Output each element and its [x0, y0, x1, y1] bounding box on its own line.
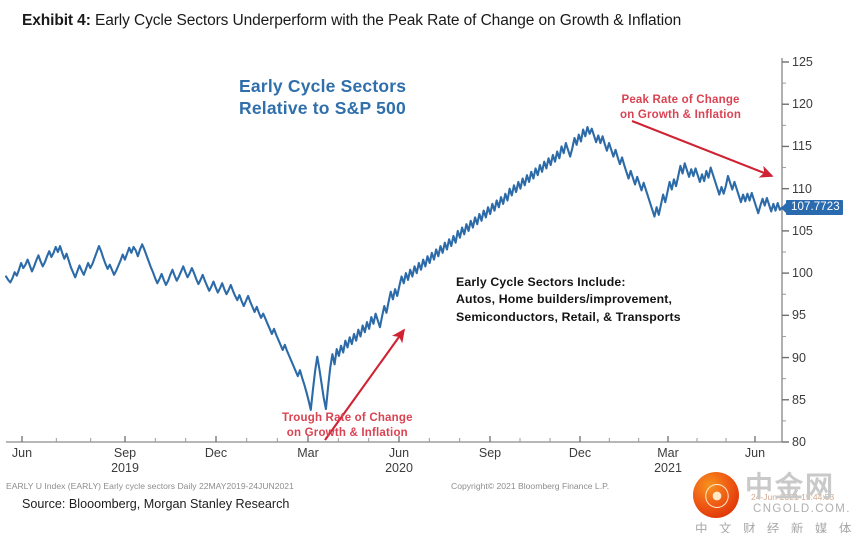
y-tick-label: 105: [792, 224, 813, 238]
watermark-cn-name: 中金网: [745, 472, 835, 502]
peak-annotation-line1: Peak Rate of Change: [620, 93, 741, 108]
y-tick-label: 90: [792, 351, 806, 365]
x-tick-label: Jun2020: [385, 446, 413, 476]
peak-annotation: Peak Rate of Change on Growth & Inflatio…: [620, 93, 741, 123]
peak-annotation-line2: on Growth & Inflation: [620, 108, 741, 123]
source-line: Source: Blooomberg, Morgan Stanley Resea…: [22, 497, 289, 511]
x-tick-label: Mar: [297, 446, 319, 461]
watermark-domain: CNGOLD.COM.CN: [753, 503, 851, 515]
x-tick-year: 2019: [111, 461, 139, 476]
exhibit-text: Early Cycle Sectors Underperform with th…: [95, 12, 681, 29]
x-tick-label: Sep: [479, 446, 501, 461]
bloomberg-footer-right: Copyright© 2021 Bloomberg Finance L.P.: [451, 481, 609, 491]
swirl-icon: ⦿: [704, 484, 730, 510]
page-title: Exhibit 4: Early Cycle Sectors Underperf…: [22, 12, 681, 30]
chart-heading-line2: Relative to S&P 500: [239, 97, 406, 119]
x-tick-label: Sep2019: [111, 446, 139, 476]
exhibit-label: Exhibit 4:: [22, 12, 91, 29]
peak-arrow: [632, 121, 772, 176]
x-tick-label: Mar2021: [654, 446, 682, 476]
trough-annotation-line2: on Growth & Inflation: [282, 426, 413, 441]
x-tick-label: Dec: [569, 446, 591, 461]
chart-screenshot: Exhibit 4: Early Cycle Sectors Underperf…: [0, 0, 851, 533]
cngold-logo-icon: ⦿: [693, 472, 739, 518]
y-tick-label: 110: [792, 182, 812, 196]
y-tick-label: 85: [792, 393, 806, 407]
bloomberg-footer-left: EARLY U Index (EARLY) Early cycle sector…: [6, 481, 294, 491]
x-tick-label: Dec: [205, 446, 227, 461]
y-tick-label: 125: [792, 55, 813, 69]
x-tick-year: 2021: [654, 461, 682, 476]
sector-note-line1: Early Cycle Sectors Include:: [456, 274, 681, 291]
y-tick-label: 120: [792, 97, 813, 111]
y-axis-ticks: [782, 62, 789, 442]
y-tick-label: 95: [792, 308, 806, 322]
sector-note-line3: Semiconductors, Retail, & Transports: [456, 309, 681, 326]
trough-annotation-line1: Trough Rate of Change: [282, 411, 413, 426]
chart-heading-line1: Early Cycle Sectors: [239, 75, 406, 97]
y-tick-label: 80: [792, 435, 806, 449]
sector-note-line2: Autos, Home builders/improvement,: [456, 291, 681, 308]
sector-include-note: Early Cycle Sectors Include: Autos, Home…: [456, 274, 681, 326]
y-tick-label: 100: [792, 266, 813, 280]
price-series-line: [6, 127, 782, 410]
y-tick-label: 115: [792, 139, 812, 153]
x-tick-label: Jun: [12, 446, 32, 461]
x-tick-label: Jun: [745, 446, 765, 461]
watermark-tagline: 中 文 财 经 新 媒 体: [695, 518, 851, 533]
chart-heading: Early Cycle Sectors Relative to S&P 500: [239, 75, 406, 120]
trough-annotation: Trough Rate of Change on Growth & Inflat…: [282, 411, 413, 441]
last-value-badge: 107.7723: [786, 200, 843, 215]
cngold-watermark: ⦿ 24-Jun-2021 15:44:53 中金网 CNGOLD.COM.CN…: [693, 470, 851, 533]
x-tick-year: 2020: [385, 461, 413, 476]
